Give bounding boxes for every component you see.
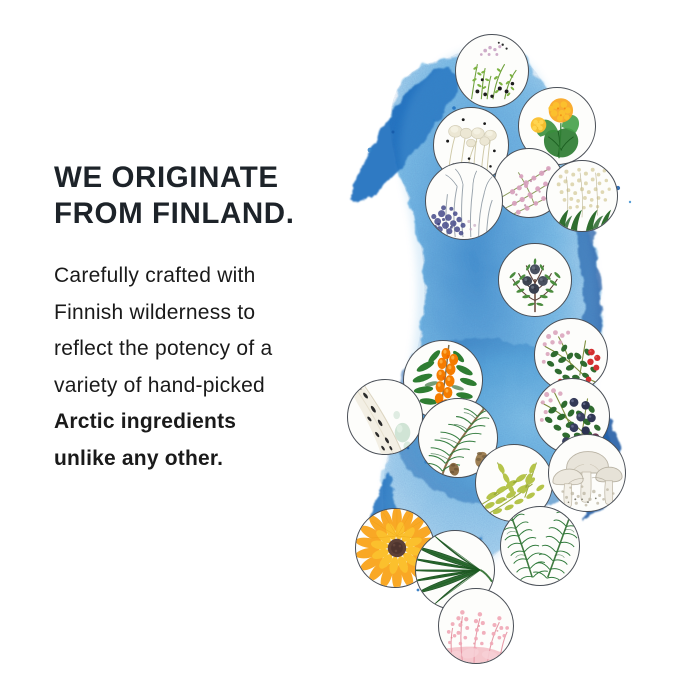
text-column: WE ORIGINATE FROM FINLAND. Carefully cra… [54, 160, 354, 477]
badge-mushrooms[interactable] [548, 434, 626, 512]
heather-illustration [456, 35, 528, 107]
badge-birch-bark[interactable] [347, 379, 423, 455]
blueberry-grass-illustration [426, 163, 502, 239]
body-line: reflect the potency of a [54, 331, 354, 368]
spruce-sprig-left [501, 514, 548, 581]
juniper-illustration [499, 244, 571, 316]
spruce-illustration [501, 507, 579, 585]
cloudberry-fruit-main [548, 98, 573, 122]
finland-map-illustration [330, 0, 679, 679]
page-title: WE ORIGINATE FROM FINLAND. [54, 160, 354, 232]
badge-spruce[interactable] [500, 506, 580, 586]
birch-bark-illustration [348, 380, 422, 454]
badge-blueberry-grass[interactable] [425, 162, 503, 240]
body-line: Finnish wilderness to [54, 295, 354, 332]
pink-willow-illustration [439, 589, 513, 663]
badge-juniper[interactable] [498, 243, 572, 317]
mushrooms-illustration [549, 435, 625, 511]
body-line: variety of hand-picked [54, 368, 354, 405]
badge-pink-willow[interactable] [438, 588, 514, 664]
meadowsweet-illustration [547, 161, 617, 231]
cloudberry-fruit-small [531, 117, 547, 133]
body-line-emphasis: unlike any other. [54, 441, 354, 478]
body-line: Carefully crafted with [54, 258, 354, 295]
badge-heather[interactable] [455, 34, 529, 108]
body-line-emphasis: Arctic ingredients [54, 404, 354, 441]
poster-canvas: WE ORIGINATE FROM FINLAND. Carefully cra… [0, 0, 679, 679]
body-paragraph: Carefully crafted with Finnish wildernes… [54, 258, 354, 477]
badge-meadowsweet[interactable] [546, 160, 618, 232]
